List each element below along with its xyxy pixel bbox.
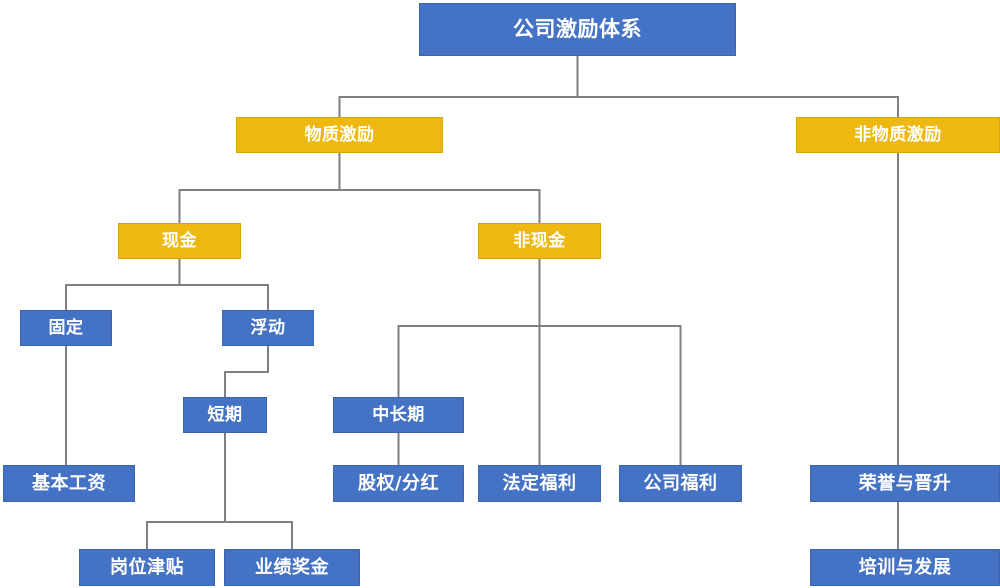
- connector-cash-to-fixed: [66, 259, 180, 310]
- node-midlongterm[interactable]: 中长期: [333, 397, 464, 433]
- node-statutorybenefit[interactable]: 法定福利: [478, 465, 601, 502]
- connector-root-to-material: [340, 56, 578, 117]
- connector-material-to-cash: [180, 153, 340, 223]
- node-nonmaterial[interactable]: 非物质激励: [796, 117, 1000, 153]
- connector-noncash-to-midlongterm: [399, 259, 540, 397]
- connector-shortterm-to-performancebonus: [225, 433, 292, 549]
- node-trainingdevelopment[interactable]: 培训与发展: [810, 549, 1000, 586]
- node-companybenefit[interactable]: 公司福利: [619, 465, 742, 502]
- node-performancebonus[interactable]: 业绩奖金: [224, 549, 360, 586]
- node-root[interactable]: 公司激励体系: [419, 3, 736, 56]
- connector-root-to-nonmaterial: [578, 56, 899, 117]
- node-noncash[interactable]: 非现金: [478, 223, 601, 259]
- node-material[interactable]: 物质激励: [236, 117, 443, 153]
- node-shortterm[interactable]: 短期: [183, 397, 267, 433]
- node-positionallowance[interactable]: 岗位津贴: [79, 549, 215, 586]
- connector-shortterm-to-positionallowance: [147, 433, 225, 549]
- node-honorpromotion[interactable]: 荣誉与晋升: [810, 465, 1000, 502]
- connector-cash-to-floating: [180, 259, 269, 310]
- node-basesalary[interactable]: 基本工资: [3, 465, 135, 502]
- connector-noncash-to-companybenefit: [540, 259, 681, 465]
- connector-floating-to-shortterm: [225, 346, 268, 397]
- node-fixed[interactable]: 固定: [20, 310, 112, 346]
- connector-material-to-noncash: [340, 153, 540, 223]
- node-cash[interactable]: 现金: [118, 223, 241, 259]
- node-floating[interactable]: 浮动: [222, 310, 314, 346]
- node-equitydividend[interactable]: 股权/分红: [333, 465, 464, 502]
- incentive-system-diagram: 公司激励体系物质激励非物质激励现金非现金固定浮动短期中长期基本工资股权/分红法定…: [0, 0, 1000, 588]
